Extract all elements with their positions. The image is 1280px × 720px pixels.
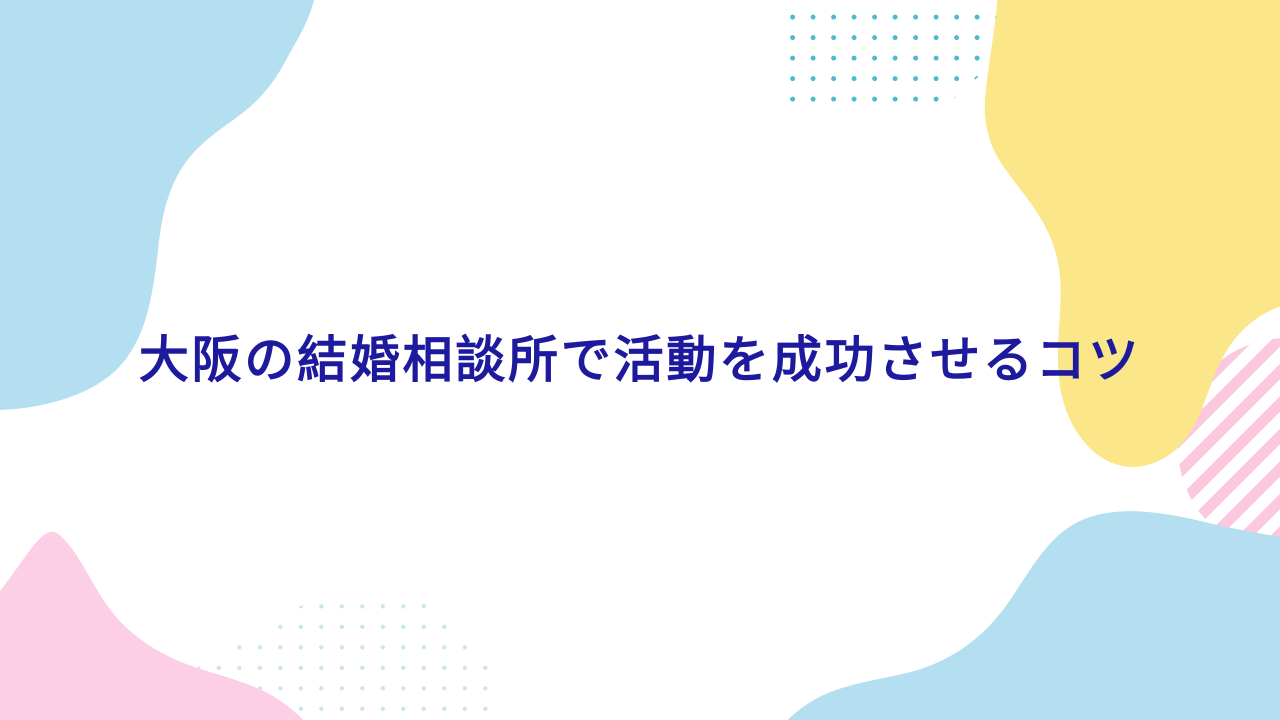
thumbnail-canvas: 大阪の結婚相談所で活動を成功させるコツ	[0, 0, 1280, 720]
page-title: 大阪の結婚相談所で活動を成功させるコツ	[79, 329, 1201, 392]
title-block: 大阪の結婚相談所で活動を成功させるコツ	[0, 0, 1280, 720]
